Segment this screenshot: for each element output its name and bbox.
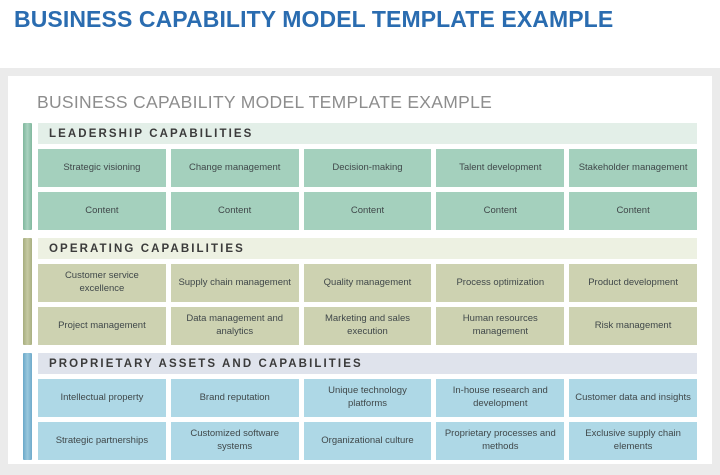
capability-cell[interactable]: Exclusive supply chain elements bbox=[569, 422, 697, 460]
capability-cell[interactable]: Content bbox=[171, 192, 299, 230]
capability-cell[interactable]: Process optimization bbox=[436, 264, 564, 302]
capability-cell[interactable]: Product development bbox=[569, 264, 697, 302]
capability-row: Strategic partnerships Customized softwa… bbox=[38, 422, 697, 460]
capability-cell[interactable]: Proprietary processes and methods bbox=[436, 422, 564, 460]
capability-cell[interactable]: In-house research and development bbox=[436, 379, 564, 417]
capability-cell[interactable]: Intellectual property bbox=[38, 379, 166, 417]
capability-cell[interactable]: Stakeholder management bbox=[569, 149, 697, 187]
section-header-leadership: LEADERSHIP CAPABILITIES bbox=[38, 123, 697, 144]
capability-cell[interactable]: Supply chain management bbox=[171, 264, 299, 302]
capability-row: Customer service excellence Supply chain… bbox=[38, 264, 697, 302]
capability-cell[interactable]: Content bbox=[38, 192, 166, 230]
capability-cell[interactable]: Change management bbox=[171, 149, 299, 187]
capability-cell[interactable]: Project management bbox=[38, 307, 166, 345]
section-header-operating: OPERATING CAPABILITIES bbox=[38, 238, 697, 259]
capability-cell[interactable]: Human resources management bbox=[436, 307, 564, 345]
section-accent-bar-leadership bbox=[23, 123, 32, 230]
capability-cell[interactable]: Strategic visioning bbox=[38, 149, 166, 187]
section-leadership: LEADERSHIP CAPABILITIES Strategic vision… bbox=[23, 123, 697, 230]
capability-row: Project management Data management and a… bbox=[38, 307, 697, 345]
slide-card: BUSINESS CAPABILITY MODEL TEMPLATE EXAMP… bbox=[8, 76, 712, 464]
section-operating: OPERATING CAPABILITIES Customer service … bbox=[23, 238, 697, 345]
capability-cell[interactable]: Content bbox=[436, 192, 564, 230]
section-header-proprietary: PROPRIETARY ASSETS AND CAPABILITIES bbox=[38, 353, 697, 374]
capability-cell[interactable]: Brand reputation bbox=[171, 379, 299, 417]
capability-cell[interactable]: Customer service excellence bbox=[38, 264, 166, 302]
capability-cell[interactable]: Organizational culture bbox=[304, 422, 432, 460]
capability-cell[interactable]: Data management and analytics bbox=[171, 307, 299, 345]
page-title: BUSINESS CAPABILITY MODEL TEMPLATE EXAMP… bbox=[14, 6, 706, 33]
capability-cell[interactable]: Talent development bbox=[436, 149, 564, 187]
capability-cell[interactable]: Content bbox=[569, 192, 697, 230]
capability-row: Strategic visioning Change management De… bbox=[38, 149, 697, 187]
capability-row: Intellectual property Brand reputation U… bbox=[38, 379, 697, 417]
capability-cell[interactable]: Customer data and insights bbox=[569, 379, 697, 417]
section-body-operating: OPERATING CAPABILITIES Customer service … bbox=[38, 238, 697, 345]
capability-cell[interactable]: Quality management bbox=[304, 264, 432, 302]
capability-cell[interactable]: Marketing and sales execution bbox=[304, 307, 432, 345]
capability-cell[interactable]: Unique technology platforms bbox=[304, 379, 432, 417]
slide-title: BUSINESS CAPABILITY MODEL TEMPLATE EXAMP… bbox=[37, 92, 697, 113]
capability-row: Content Content Content Content Content bbox=[38, 192, 697, 230]
section-body-proprietary: PROPRIETARY ASSETS AND CAPABILITIES Inte… bbox=[38, 353, 697, 460]
page-banner: BUSINESS CAPABILITY MODEL TEMPLATE EXAMP… bbox=[0, 0, 720, 68]
section-proprietary: PROPRIETARY ASSETS AND CAPABILITIES Inte… bbox=[23, 353, 697, 460]
capability-cell[interactable]: Risk management bbox=[569, 307, 697, 345]
capability-cell[interactable]: Content bbox=[304, 192, 432, 230]
capability-cell[interactable]: Customized software systems bbox=[171, 422, 299, 460]
section-accent-bar-proprietary bbox=[23, 353, 32, 460]
section-body-leadership: LEADERSHIP CAPABILITIES Strategic vision… bbox=[38, 123, 697, 230]
slide-stage: BUSINESS CAPABILITY MODEL TEMPLATE EXAMP… bbox=[0, 68, 720, 475]
capability-cell[interactable]: Strategic partnerships bbox=[38, 422, 166, 460]
section-accent-bar-operating bbox=[23, 238, 32, 345]
capability-cell[interactable]: Decision-making bbox=[304, 149, 432, 187]
